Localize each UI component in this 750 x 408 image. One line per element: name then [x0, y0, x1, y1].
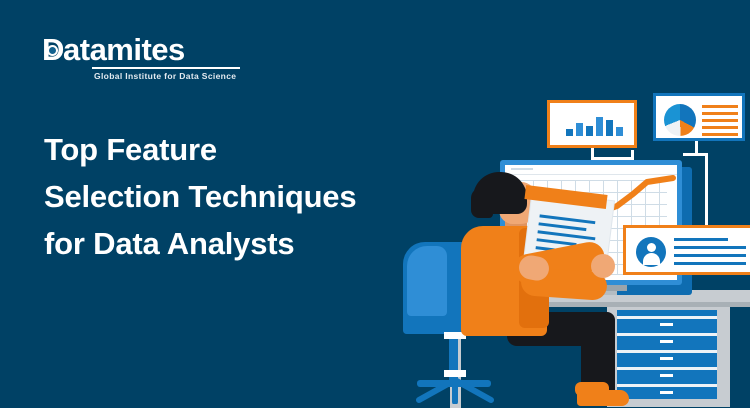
drawer-divider: [617, 350, 717, 353]
person-hand: [591, 254, 615, 278]
headline-line-3: for Data Analysts: [44, 220, 404, 267]
bar-item: [596, 117, 603, 136]
bar-item: [576, 123, 583, 136]
logo-word-rest: atamites: [63, 33, 185, 67]
pie-chart-icon: [664, 104, 696, 136]
bar-chart-card[interactable]: [547, 100, 637, 148]
document-text-line: [538, 222, 586, 231]
drawer-divider: [617, 333, 717, 336]
logo-dot-icon: [47, 45, 58, 56]
profile-card[interactable]: [623, 225, 750, 275]
chair-back-highlight: [407, 246, 447, 316]
bar-item: [566, 129, 573, 136]
bar-item: [586, 126, 593, 136]
headline-line-1: Top Feature: [44, 126, 404, 173]
pie-chart-card[interactable]: [653, 93, 745, 141]
pie-card-text-line: [702, 105, 738, 108]
profile-text-line: [674, 246, 746, 249]
bar-item: [606, 120, 613, 136]
logo-divider: [92, 67, 240, 69]
logo-d-glyph: D: [42, 34, 65, 66]
drawer-divider: [617, 384, 717, 387]
headline-line-2: Selection Techniques: [44, 173, 404, 220]
monitor-titlebar-line: [511, 168, 533, 170]
logo-tagline: Global Institute for Data Science: [94, 71, 236, 81]
drawer-handle-icon: [660, 374, 673, 377]
person-hair: [473, 172, 527, 214]
avatar-body-icon: [643, 253, 660, 265]
page-title: Top Feature Selection Techniques for Dat…: [44, 126, 404, 267]
drawer-handle-icon: [660, 391, 673, 394]
pie-card-text-line: [702, 119, 738, 122]
chair-post-clamp: [444, 370, 466, 377]
drawer-divider: [617, 316, 717, 319]
datamites-logo[interactable]: D atamites Global Institute for Data Sci…: [42, 33, 242, 79]
drawer-handle-icon: [660, 357, 673, 360]
profile-text-line: [674, 262, 746, 265]
connector-line: [705, 153, 708, 231]
profile-text-line: [674, 254, 746, 257]
drawer-divider: [617, 367, 717, 370]
bar-item: [616, 127, 623, 136]
connector-line: [683, 153, 707, 156]
drawer-handle-icon: [660, 340, 673, 343]
avatar-head-icon: [647, 243, 656, 252]
connector-line: [631, 150, 634, 160]
drawer-handle-icon: [660, 323, 673, 326]
data-analyst-workspace-illustration: [395, 60, 750, 400]
banner-root: D atamites Global Institute for Data Sci…: [0, 0, 750, 400]
pie-card-text-line: [702, 112, 738, 115]
person-shoe: [577, 390, 629, 406]
profile-text-line: [674, 238, 728, 241]
pie-card-text-line: [702, 133, 738, 136]
bar-chart: [566, 108, 622, 136]
pie-card-text-line: [702, 126, 738, 129]
